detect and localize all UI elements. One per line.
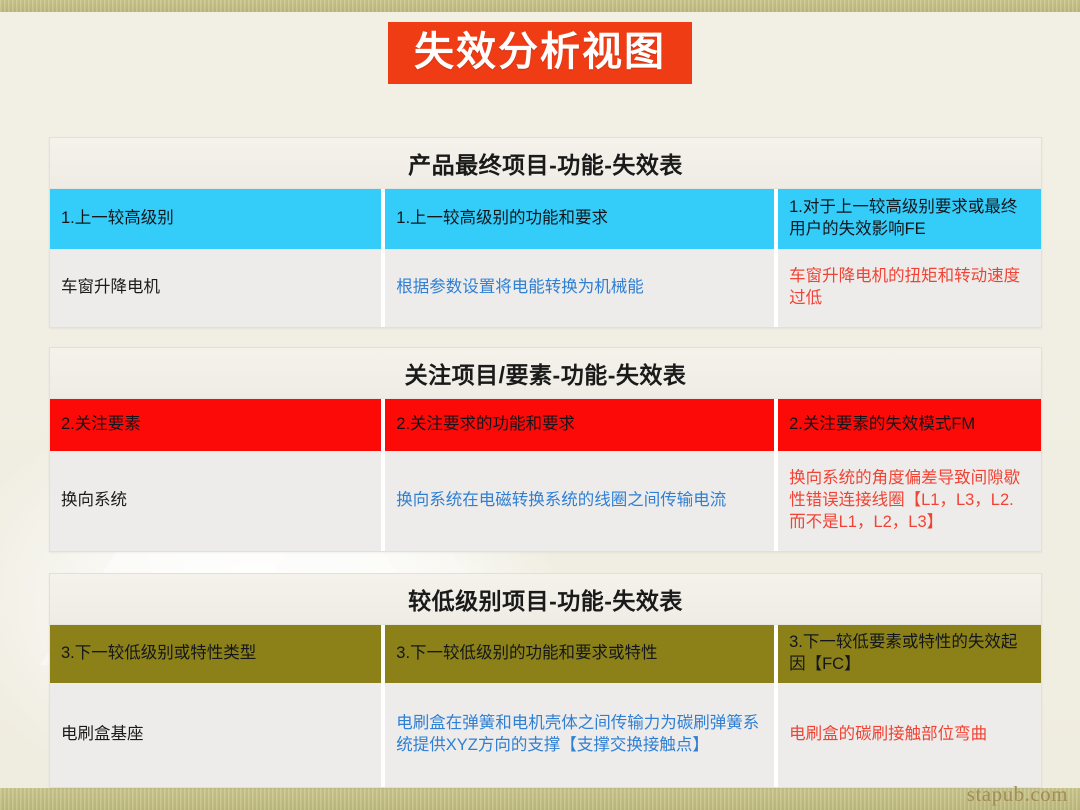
slide-canvas: 失效分析视图 产品最终项目-功能-失效表 1.上一较高级别 1.上一较高级别的功… — [0, 0, 1080, 810]
header-cell-failure: 2.关注要素的失效模式FM — [778, 399, 1041, 451]
body-cell-failure: 车窗升降电机的扭矩和转动速度过低 — [778, 249, 1041, 327]
section-focus-element: 关注项目/要素-功能-失效表 2.关注要素 2.关注要求的功能和要求 2.关注要… — [49, 347, 1042, 552]
table-header-row: 2.关注要素 2.关注要求的功能和要求 2.关注要素的失效模式FM — [50, 399, 1041, 451]
header-cell-item: 3.下一较低级别或特性类型 — [50, 625, 381, 683]
table-row: 换向系统 换向系统在电磁转换系统的线圈之间传输电流 换向系统的角度偏差导致间隙歇… — [50, 451, 1041, 551]
body-cell-item: 换向系统 — [50, 451, 381, 551]
body-cell-item: 电刷盒基座 — [50, 683, 381, 787]
section-title: 较低级别项目-功能-失效表 — [50, 574, 1041, 625]
section-lower-level: 较低级别项目-功能-失效表 3.下一较低级别或特性类型 3.下一较低级别的功能和… — [49, 573, 1042, 788]
site-watermark: stapub.com — [967, 782, 1068, 807]
body-cell-failure: 电刷盒的碳刷接触部位弯曲 — [778, 683, 1041, 787]
body-cell-function: 根据参数设置将电能转换为机械能 — [385, 249, 774, 327]
bottom-edge-strip — [0, 788, 1080, 810]
section-product-level: 产品最终项目-功能-失效表 1.上一较高级别 1.上一较高级别的功能和要求 1.… — [49, 137, 1042, 328]
header-cell-function: 1.上一较高级别的功能和要求 — [385, 189, 774, 249]
body-cell-failure: 换向系统的角度偏差导致间隙歇性错误连接线圈【L1，L3，L2.而不是L1，L2，… — [778, 451, 1041, 551]
table-row: 车窗升降电机 根据参数设置将电能转换为机械能 车窗升降电机的扭矩和转动速度过低 — [50, 249, 1041, 327]
header-cell-function: 3.下一较低级别的功能和要求或特性 — [385, 625, 774, 683]
section-title: 产品最终项目-功能-失效表 — [50, 138, 1041, 189]
page-title-container: 失效分析视图 — [0, 22, 1080, 84]
table-row: 电刷盒基座 电刷盒在弹簧和电机壳体之间传输力为碳刷弹簧系统提供XYZ方向的支撑【… — [50, 683, 1041, 787]
top-edge-strip — [0, 0, 1080, 12]
header-cell-function: 2.关注要求的功能和要求 — [385, 399, 774, 451]
header-cell-failure: 3.下一较低要素或特性的失效起因【FC】 — [778, 625, 1041, 683]
body-cell-function: 换向系统在电磁转换系统的线圈之间传输电流 — [385, 451, 774, 551]
page-title: 失效分析视图 — [388, 22, 692, 84]
section-title: 关注项目/要素-功能-失效表 — [50, 348, 1041, 399]
header-cell-item: 1.上一较高级别 — [50, 189, 381, 249]
header-cell-failure: 1.对于上一较高级别要求或最终用户的失效影响FE — [778, 189, 1041, 249]
header-cell-item: 2.关注要素 — [50, 399, 381, 451]
table-header-row: 3.下一较低级别或特性类型 3.下一较低级别的功能和要求或特性 3.下一较低要素… — [50, 625, 1041, 683]
body-cell-function: 电刷盒在弹簧和电机壳体之间传输力为碳刷弹簧系统提供XYZ方向的支撑【支撑交换接触… — [385, 683, 774, 787]
table-header-row: 1.上一较高级别 1.上一较高级别的功能和要求 1.对于上一较高级别要求或最终用… — [50, 189, 1041, 249]
body-cell-item: 车窗升降电机 — [50, 249, 381, 327]
